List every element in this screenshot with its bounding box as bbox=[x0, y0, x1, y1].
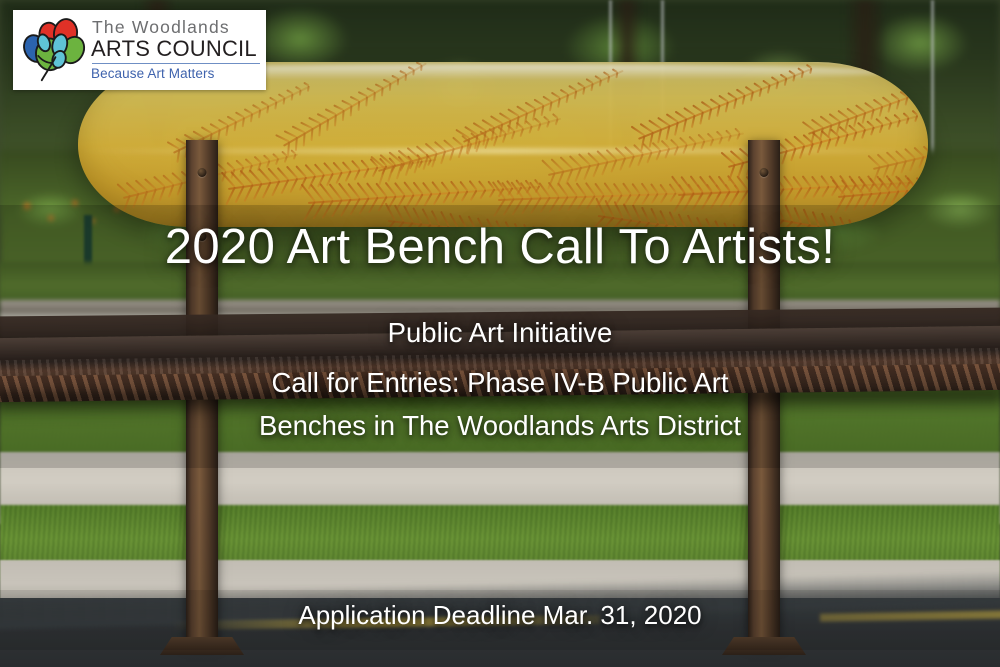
page-title: 2020 Art Bench Call To Artists! bbox=[0, 219, 1000, 275]
art-bench-call-to-artists-poster: The Woodlands ARTS COUNCIL Because Art M… bbox=[0, 0, 1000, 667]
subhead-line-2: Call for Entries: Phase IV-B Public Art bbox=[0, 363, 1000, 403]
poster-copy: 2020 Art Bench Call To Artists! Public A… bbox=[0, 0, 1000, 667]
application-deadline: Application Deadline Mar. 31, 2020 bbox=[0, 600, 1000, 631]
subhead-line-1: Public Art Initiative bbox=[0, 313, 1000, 353]
subhead-line-3: Benches in The Woodlands Arts District bbox=[0, 406, 1000, 446]
